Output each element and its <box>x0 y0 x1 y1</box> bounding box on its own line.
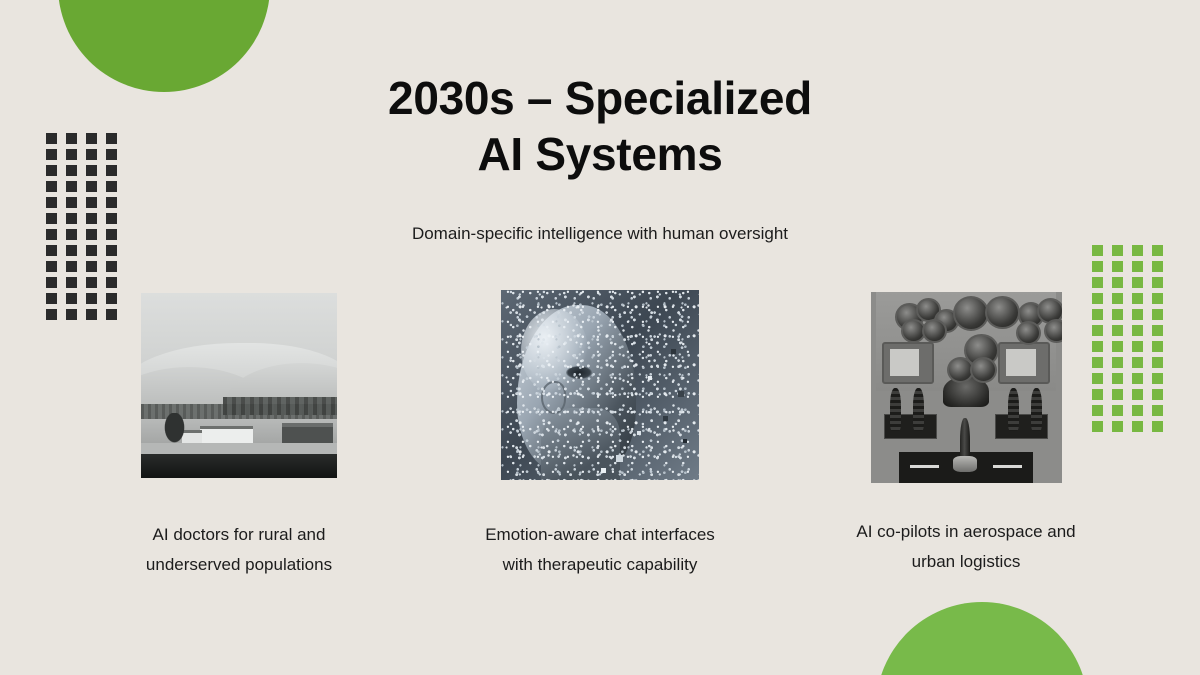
landscape-illustration <box>141 293 337 478</box>
dot-square <box>86 309 97 320</box>
dot-square <box>86 261 97 272</box>
dot-square <box>106 197 117 208</box>
rural-landscape-photo <box>141 293 337 478</box>
dot-square <box>1132 357 1143 368</box>
dot-square <box>1152 261 1163 272</box>
dot-square <box>86 181 97 192</box>
dot-square <box>66 213 77 224</box>
dot-square <box>46 261 57 272</box>
throttle-lever-4 <box>1031 388 1042 432</box>
dot-square <box>66 309 77 320</box>
page-subtitle: Domain-specific intelligence with human … <box>250 224 950 244</box>
dot-square <box>66 149 77 160</box>
dot-square <box>46 133 57 144</box>
dot-square <box>106 229 117 240</box>
throttle-lever-2 <box>913 388 924 432</box>
dot-square <box>1112 277 1123 288</box>
dot-square <box>106 245 117 256</box>
cockpit-gauge-14 <box>970 357 997 383</box>
page-title-line-2: AI Systems <box>300 126 900 182</box>
control-stick-base <box>953 456 978 471</box>
dot-square <box>1152 341 1163 352</box>
dot-square <box>66 197 77 208</box>
pixel-block-layer <box>501 290 699 480</box>
cockpit-control-panel-photo <box>871 292 1062 483</box>
dot-square <box>106 181 117 192</box>
dot-square <box>1152 325 1163 336</box>
dot-square <box>1152 373 1163 384</box>
dot-square <box>106 133 117 144</box>
dot-square <box>1152 277 1163 288</box>
dot-square <box>1092 245 1103 256</box>
dot-square <box>1152 293 1163 304</box>
left-arrow-marking <box>910 465 939 468</box>
right-arrow-marking <box>993 465 1022 468</box>
dot-square <box>86 197 97 208</box>
dot-square <box>66 277 77 288</box>
dot-square <box>106 213 117 224</box>
dot-square <box>1152 421 1163 432</box>
dot-square <box>1112 389 1123 400</box>
dot-square <box>1112 293 1123 304</box>
right-dot-grid-decoration <box>1092 245 1163 432</box>
dot-square <box>86 213 97 224</box>
dot-square <box>106 261 117 272</box>
dot-square <box>66 293 77 304</box>
cockpit-gauge-10 <box>922 319 947 343</box>
left-dot-grid-decoration <box>46 133 117 320</box>
dot-square <box>106 165 117 176</box>
dot-square <box>1112 325 1123 336</box>
dot-square <box>86 133 97 144</box>
dot-square <box>66 229 77 240</box>
dot-square <box>106 277 117 288</box>
dot-square <box>1152 357 1163 368</box>
dot-square <box>46 149 57 160</box>
dot-square <box>66 261 77 272</box>
dot-square <box>1132 277 1143 288</box>
dot-square <box>86 277 97 288</box>
dot-square <box>1132 341 1143 352</box>
card-caption: AI doctors for rural and underserved pop… <box>109 520 369 581</box>
dot-square <box>86 245 97 256</box>
green-circle-bottom-right-decoration <box>876 602 1088 675</box>
dot-square <box>1112 261 1123 272</box>
throttle-lever-3 <box>1008 388 1019 432</box>
cockpit-gauge-8 <box>1044 319 1061 343</box>
dot-square <box>66 245 77 256</box>
presentation-slide: 2030s – Specialized AI Systems Domain-sp… <box>0 0 1200 675</box>
page-title-line-1: 2030s – Specialized <box>300 70 900 126</box>
content-card-rural-health: AI doctors for rural and underserved pop… <box>109 293 369 581</box>
dot-square <box>46 293 57 304</box>
card-caption: AI co-pilots in aerospace and urban logi… <box>836 517 1096 578</box>
dot-square <box>1152 389 1163 400</box>
dot-square <box>46 213 57 224</box>
dot-square <box>1112 405 1123 416</box>
dot-square <box>46 277 57 288</box>
head-illustration <box>501 290 699 480</box>
dot-square <box>1132 261 1143 272</box>
green-circle-top-left-decoration <box>58 0 270 92</box>
dot-square <box>106 149 117 160</box>
dot-square <box>66 133 77 144</box>
page-title: 2030s – Specialized AI Systems <box>300 70 900 182</box>
dot-square <box>46 229 57 240</box>
dot-square <box>1112 357 1123 368</box>
dot-square <box>1132 245 1143 256</box>
dot-square <box>1152 405 1163 416</box>
content-card-emotion-chat: Emotion-aware chat interfaces with thera… <box>470 290 730 581</box>
dot-square <box>86 229 97 240</box>
dot-square <box>46 165 57 176</box>
lower-field-strip <box>141 443 337 454</box>
dot-square <box>66 165 77 176</box>
dot-square <box>66 181 77 192</box>
cockpit-gauge-11 <box>1016 321 1041 345</box>
left-display-screen <box>882 342 934 384</box>
cockpit-gauge-4 <box>953 296 989 331</box>
dot-square <box>46 181 57 192</box>
dot-square <box>46 309 57 320</box>
dot-square <box>86 165 97 176</box>
content-card-aerospace: AI co-pilots in aerospace and urban logi… <box>836 292 1096 578</box>
dot-square <box>1132 373 1143 384</box>
dot-square <box>86 149 97 160</box>
large-tree-shape <box>163 413 187 444</box>
cockpit-illustration <box>871 292 1062 483</box>
dot-square <box>86 293 97 304</box>
card-caption: Emotion-aware chat interfaces with thera… <box>470 520 730 581</box>
dot-square <box>1092 261 1103 272</box>
dispersing-human-head-photo <box>501 290 699 480</box>
dot-square <box>1092 277 1103 288</box>
dot-square <box>1132 421 1143 432</box>
dot-square <box>1132 405 1143 416</box>
dot-square <box>46 245 57 256</box>
dot-square <box>1112 309 1123 320</box>
dot-square <box>1132 309 1143 320</box>
dot-square <box>1112 245 1123 256</box>
cockpit-gauge-5 <box>985 296 1020 329</box>
right-display-screen <box>998 342 1050 384</box>
dot-square <box>1152 245 1163 256</box>
dot-square <box>1112 421 1123 432</box>
dot-square <box>46 197 57 208</box>
dot-square <box>1132 293 1143 304</box>
dot-square <box>1132 325 1143 336</box>
throttle-lever-1 <box>890 388 901 432</box>
dot-square <box>1132 389 1143 400</box>
dot-square <box>1112 341 1123 352</box>
dot-square <box>1112 373 1123 384</box>
treeline-secondary-layer <box>223 397 337 416</box>
dot-square <box>1152 309 1163 320</box>
dark-foreground-band <box>141 454 337 478</box>
